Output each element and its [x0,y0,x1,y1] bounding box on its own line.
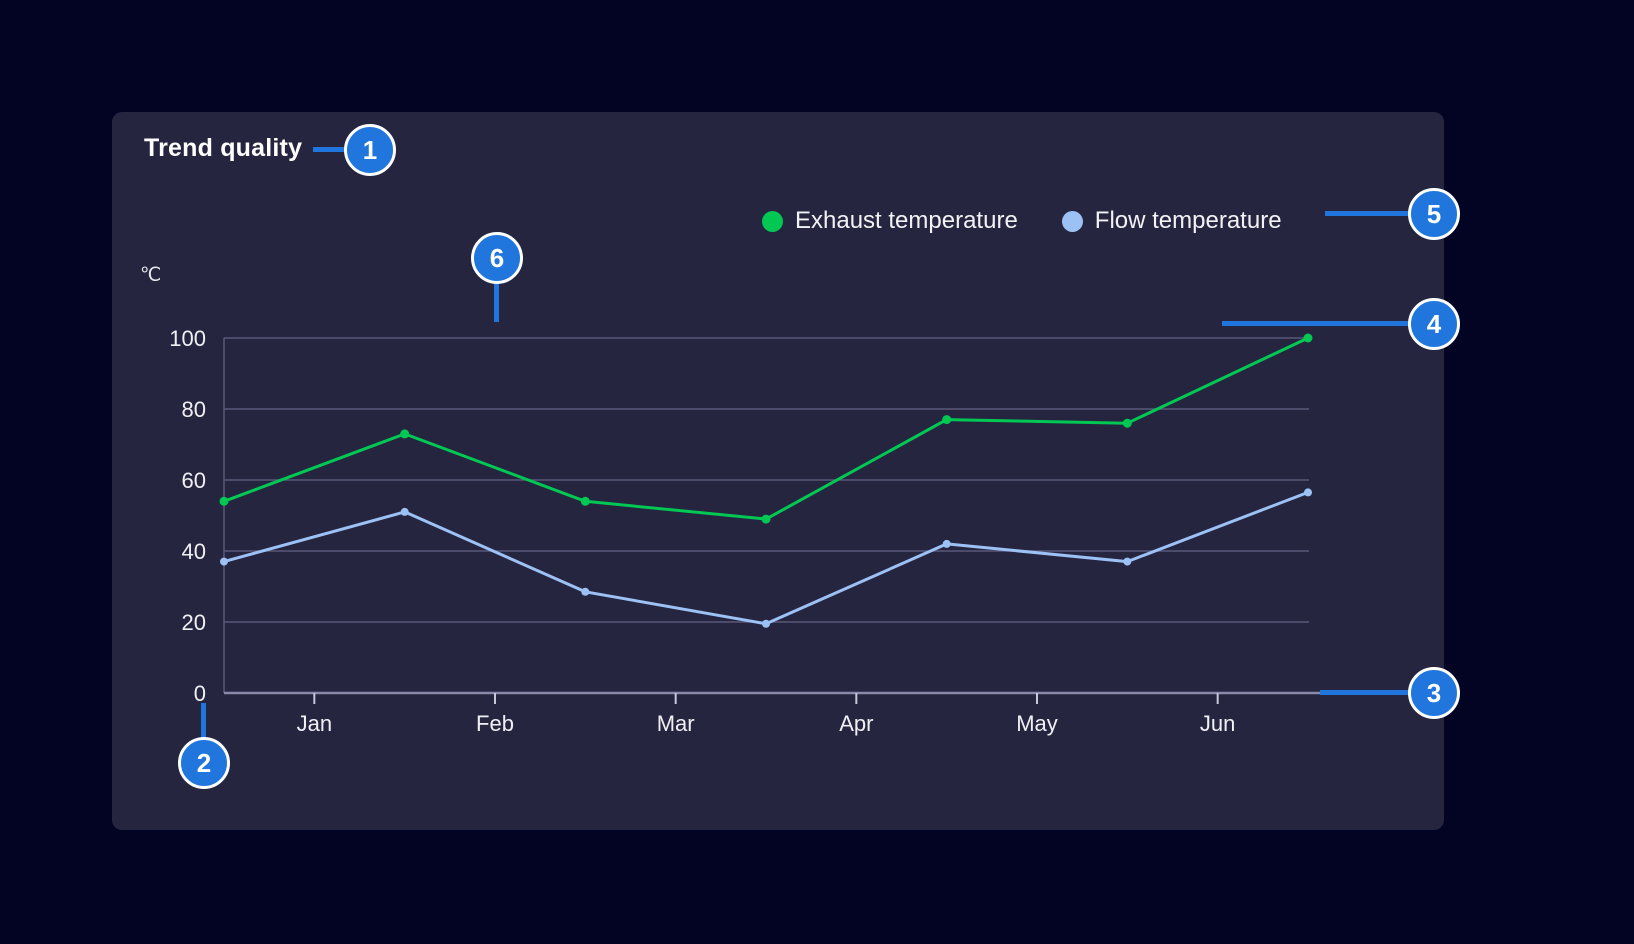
data-point[interactable] [400,429,409,438]
y-axis-tick-label: 80 [182,397,206,422]
x-axis-line [224,693,1320,704]
data-point[interactable] [581,588,589,596]
data-point[interactable] [220,497,229,506]
x-axis-tick-label: Mar [657,711,695,736]
data-point[interactable] [1304,488,1312,496]
series-line-exhaust-temperature [224,338,1308,519]
chart-card: Trend quality Exhaust temperature Flow t… [112,112,1444,830]
data-point[interactable] [220,558,228,566]
series-line-flow-temperature [224,492,1308,623]
data-point[interactable] [1123,419,1132,428]
y-axis-tick-labels: 020406080100 [169,326,206,706]
data-point[interactable] [762,620,770,628]
data-point[interactable] [762,515,771,524]
callout-marker-3[interactable]: 3 [1408,667,1460,719]
x-axis-tick-label: Feb [476,711,514,736]
data-point[interactable] [943,540,951,548]
callout-marker-1[interactable]: 1 [344,124,396,176]
x-axis-tick-label: May [1016,711,1058,736]
callout-marker-6[interactable]: 6 [471,232,523,284]
callout-marker-2[interactable]: 2 [178,737,230,789]
callout-leader-6 [494,278,499,322]
plot-area: 020406080100 JanFebMarAprMayJun [112,112,1444,830]
data-point[interactable] [1304,334,1313,343]
line-chart-svg: 020406080100 JanFebMarAprMayJun [112,112,1444,830]
x-axis-tick-label: Jun [1200,711,1235,736]
data-point[interactable] [581,497,590,506]
x-axis-tick-label: Apr [839,711,873,736]
data-point[interactable] [1123,558,1131,566]
x-axis-tick-label: Jan [297,711,332,736]
data-point[interactable] [942,415,951,424]
callout-marker-4[interactable]: 4 [1408,298,1460,350]
y-axis-tick-label: 100 [169,326,206,351]
screenshot-root: Trend quality Exhaust temperature Flow t… [0,0,1634,944]
y-axis-tick-label: 60 [182,468,206,493]
data-point[interactable] [401,508,409,516]
callout-leader-4 [1222,321,1426,326]
callout-marker-5[interactable]: 5 [1408,188,1460,240]
y-axis-tick-label: 40 [182,539,206,564]
series-lines [224,338,1308,624]
x-axis-tick-labels: JanFebMarAprMayJun [297,711,1236,736]
y-axis-tick-label: 20 [182,610,206,635]
